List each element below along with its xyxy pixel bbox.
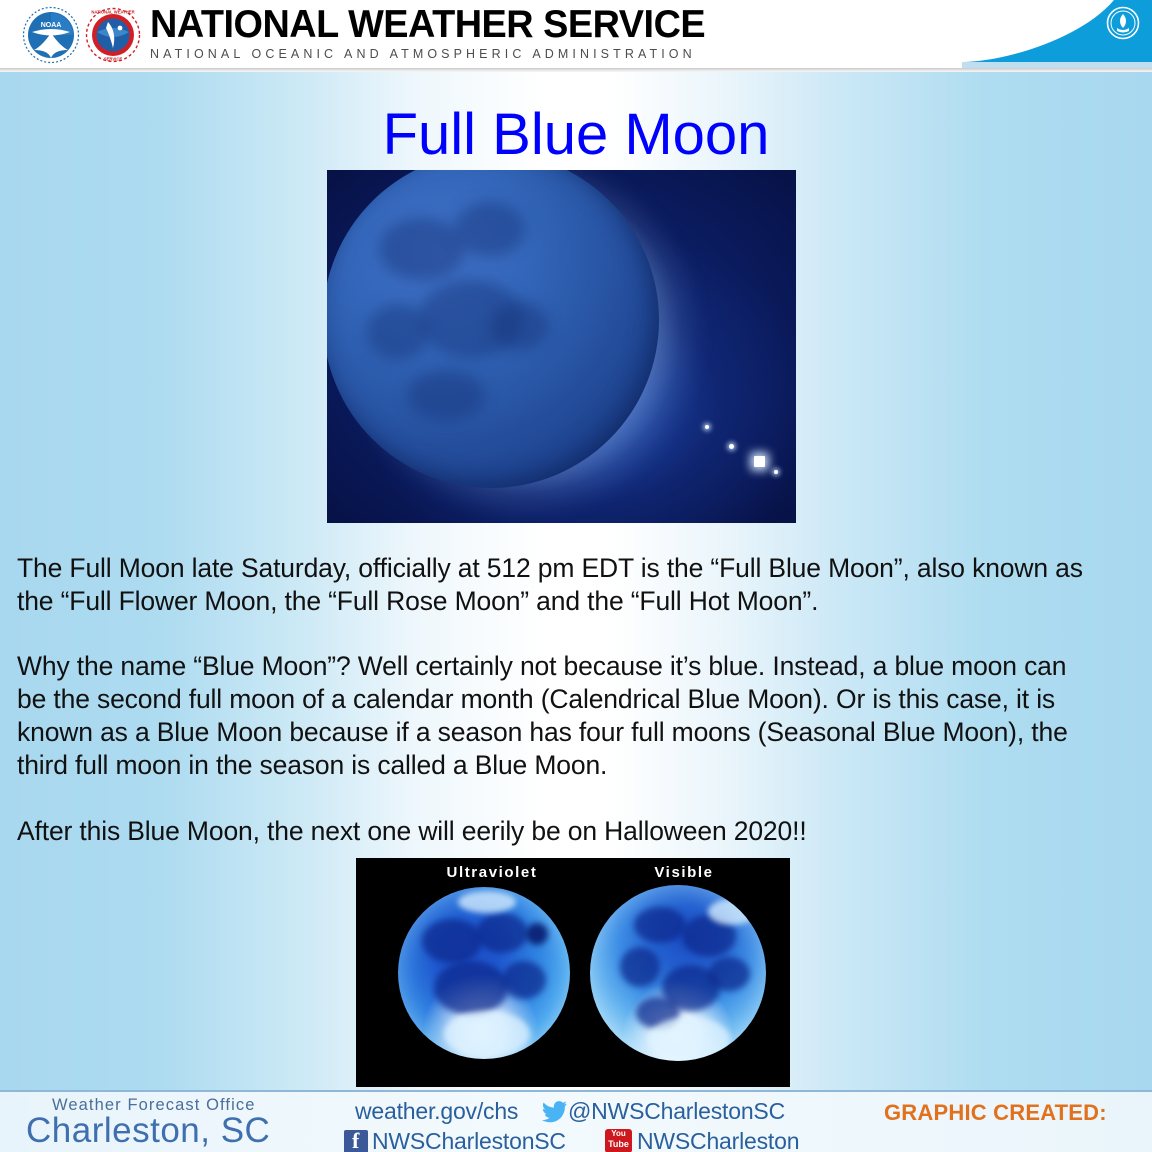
twitter-icon — [542, 1101, 568, 1123]
mare-patch — [407, 370, 485, 420]
paragraph-next-blue-moon: After this Blue Moon, the next one will … — [17, 815, 1099, 848]
star-icon — [754, 456, 765, 467]
highland — [648, 1017, 730, 1061]
svg-text:NOAA: NOAA — [41, 22, 62, 29]
nws-footer-bar: Weather Forecast Office Charleston, SC w… — [0, 1090, 1152, 1152]
moon-ultraviolet-disc — [398, 887, 570, 1059]
crater — [620, 947, 660, 987]
youtube-icon: You Tube — [605, 1129, 632, 1152]
highland — [708, 899, 756, 925]
crater — [476, 913, 528, 953]
header-wordmark: NATIONAL WEATHER SERVICE NATIONAL OCEANI… — [150, 4, 722, 62]
poster-page: NOAA NATIONAL WEATHER SERVICE NATIONAL W… — [0, 0, 1152, 1152]
header-swoosh-graphic — [962, 0, 1152, 70]
facebook-icon — [344, 1130, 368, 1152]
mare-patch — [367, 304, 429, 360]
svg-text:NATIONAL WEATHER: NATIONAL WEATHER — [91, 10, 134, 15]
moon-visible-disc — [590, 885, 766, 1061]
highland — [444, 1011, 530, 1057]
paragraph-full-moon-names: The Full Moon late Saturday, officially … — [17, 552, 1099, 618]
website-link[interactable]: weather.gov/chs — [355, 1098, 518, 1125]
header-title: NATIONAL WEATHER SERVICE — [150, 4, 705, 46]
star-icon — [705, 425, 709, 429]
noaa-seal-icon: NOAA — [22, 6, 80, 64]
crater — [434, 961, 508, 1015]
star-icon — [729, 444, 734, 449]
mare-patch — [455, 202, 525, 256]
crater — [634, 907, 686, 943]
crater — [526, 923, 548, 945]
page-title: Full Blue Moon — [0, 104, 1152, 166]
twitter-handle[interactable]: @NWSCharlestonSC — [568, 1098, 785, 1125]
highland — [458, 891, 516, 913]
youtube-icon-top-text: You — [605, 1129, 632, 1138]
crater — [422, 919, 482, 963]
facebook-handle[interactable]: NWSCharlestonSC — [372, 1128, 566, 1152]
graphic-created-label: GRAPHIC CREATED: — [884, 1100, 1107, 1126]
mare-patch — [491, 302, 549, 350]
crater — [502, 961, 546, 999]
svg-text:SERVICE: SERVICE — [104, 57, 123, 62]
mare-patch — [379, 218, 465, 280]
youtube-icon-bottom-text: Tube — [605, 1139, 632, 1149]
crescent-moon-photo — [327, 170, 796, 523]
forecast-office-city: Charleston, SC — [26, 1111, 270, 1151]
ultraviolet-label: Ultraviolet — [392, 864, 592, 881]
nws-header-banner: NOAA NATIONAL WEATHER SERVICE NATIONAL W… — [0, 0, 1152, 70]
visible-label: Visible — [584, 864, 784, 881]
star-icon — [774, 470, 778, 474]
uv-visible-comparison-photo: Ultraviolet Visible — [356, 858, 790, 1087]
paragraph-blue-moon-explanation: Why the name “Blue Moon”? Well certainly… — [17, 650, 1099, 782]
youtube-handle[interactable]: NWSCharleston — [637, 1128, 799, 1152]
crater — [708, 957, 750, 991]
national-weather-service-seal-icon: NATIONAL WEATHER SERVICE — [84, 6, 142, 64]
header-subtitle: NATIONAL OCEANIC AND ATMOSPHERIC ADMINIS… — [150, 47, 722, 62]
